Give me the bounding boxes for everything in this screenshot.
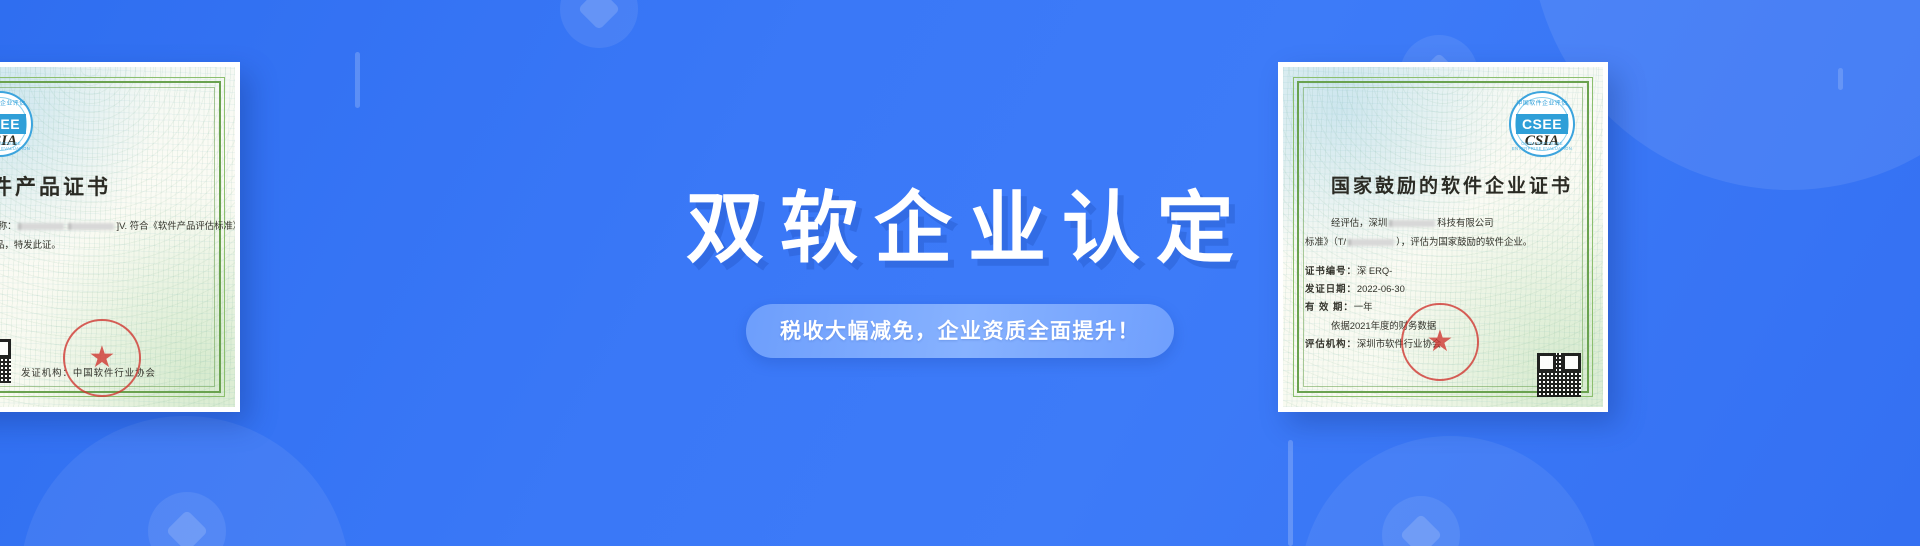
certificate-content: 中国软件企业评估 CSEE CSIA CHINA SOFTWARE ENTERP… bbox=[1305, 91, 1581, 383]
redacted-field bbox=[1348, 239, 1394, 246]
seal-bottom-text: CHINA SOFTWARE ENTERPRISE EVALUATION bbox=[1511, 141, 1573, 151]
field-label: 发证日期： bbox=[1305, 283, 1357, 294]
field-label: 证书编号： bbox=[1305, 265, 1357, 276]
field-label: 有 效 期： bbox=[1305, 301, 1354, 312]
field-value: 一年 bbox=[1354, 301, 1373, 312]
issuer-label: 评估机构： bbox=[1305, 338, 1357, 349]
field-value: 深 ERQ- bbox=[1357, 265, 1392, 276]
csee-csia-seal-icon: 中国软件企业评估 CSEE CSIA CHINA SOFTWARE ENTERP… bbox=[1509, 91, 1575, 157]
body-suffix: ），评估为国家鼓励的软件企业。 bbox=[1396, 236, 1532, 247]
field-value: 2022-06-30 bbox=[1357, 283, 1405, 294]
qr-code-icon bbox=[1537, 353, 1581, 397]
certificate-image-right: 中国软件企业评估 CSEE CSIA CHINA SOFTWARE ENTERP… bbox=[1278, 62, 1608, 412]
certificate-footer bbox=[1305, 353, 1581, 397]
certificate-paper: 中国软件企业评估 CSEE CSIA CHINA SOFTWARE ENTERP… bbox=[1283, 67, 1603, 407]
red-official-stamp-icon bbox=[1401, 303, 1479, 381]
seal-top-text: 中国软件企业评估 bbox=[1511, 98, 1573, 107]
promo-banner: 中国软件企业评估 CSEE CSIA CHINA SOFTWARE ENTERP… bbox=[0, 0, 1920, 546]
certificate-title: 国家鼓励的软件企业证书 bbox=[1331, 171, 1581, 198]
subtitle-pill-badge: 税收大幅减免，企业资质全面提升！ bbox=[746, 304, 1174, 358]
body-prefix: 标准》（T/ bbox=[1305, 236, 1346, 247]
banner-center-content: 双软企业认定 税收大幅减免，企业资质全面提升！ bbox=[0, 0, 1920, 546]
certificate-field-row: 发证日期：2022-06-30 bbox=[1305, 280, 1581, 298]
certificate-body: 经评估，深圳科技有限公司 标准》（T/），评估为国家鼓励的软件企业。 bbox=[1305, 214, 1581, 252]
page-title: 双软企业认定 bbox=[670, 188, 1250, 270]
seal-csee-text: CSEE bbox=[1511, 115, 1573, 133]
body-prefix: 经评估，深圳 bbox=[1331, 217, 1387, 228]
body-suffix: 科技有限公司 bbox=[1437, 217, 1493, 228]
certificate-field-row: 证书编号：深 ERQ- bbox=[1305, 262, 1581, 280]
certificate-body-line-1: 经评估，深圳科技有限公司 bbox=[1305, 214, 1581, 233]
redacted-field bbox=[1389, 220, 1435, 227]
certificate-body-line-2: 标准》（T/），评估为国家鼓励的软件企业。 bbox=[1305, 233, 1581, 252]
